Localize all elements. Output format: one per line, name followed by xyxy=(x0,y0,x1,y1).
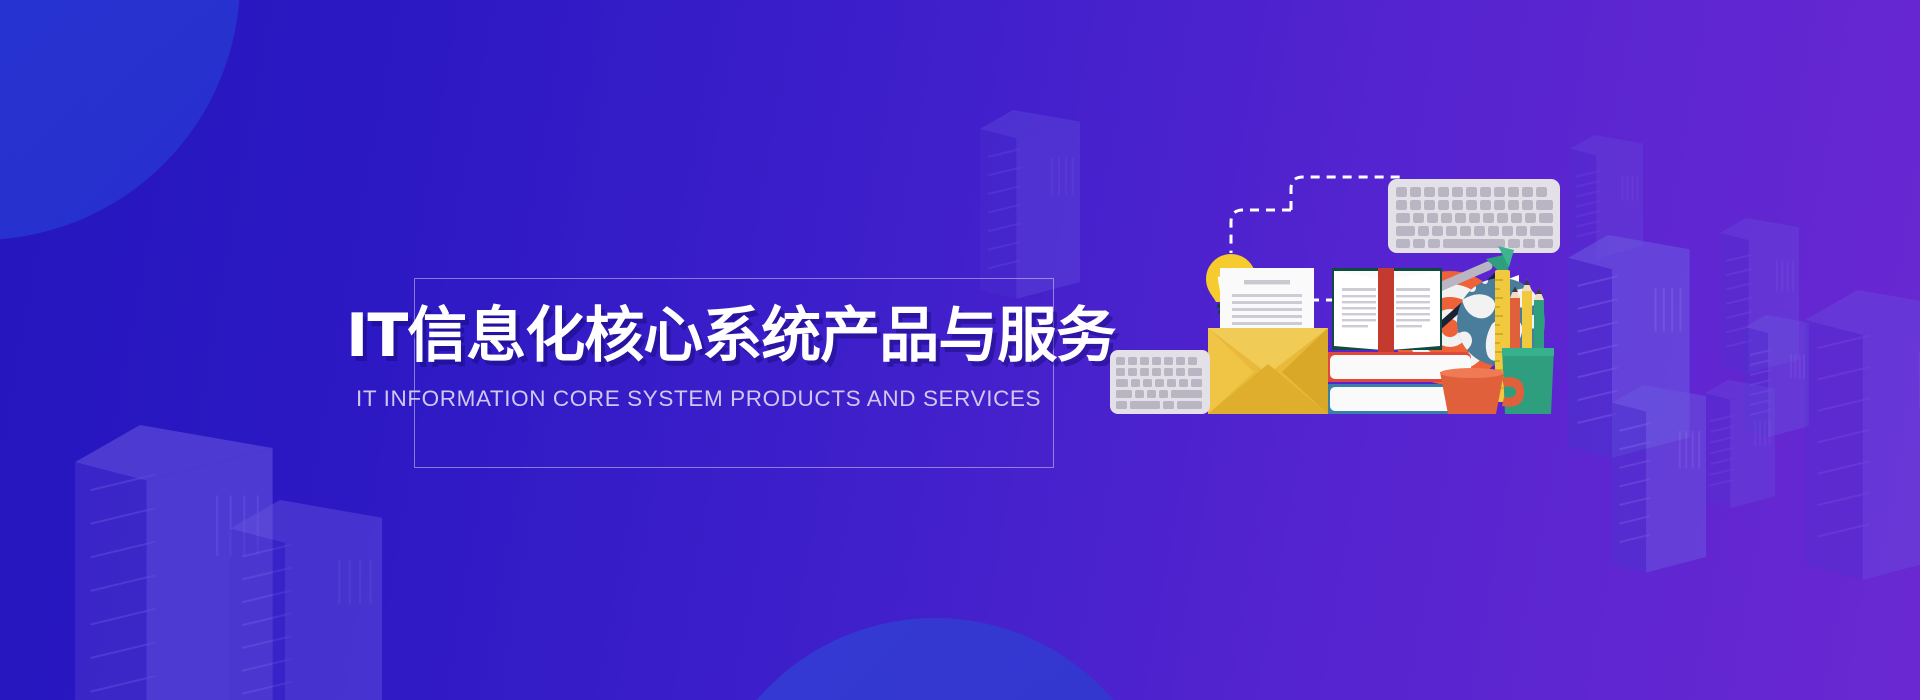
envelope-icon xyxy=(1208,268,1328,414)
building-right-4 xyxy=(1745,315,1809,437)
circle-bottom-decor xyxy=(700,618,1170,700)
building-right-5 xyxy=(1705,380,1775,508)
building-right-1 xyxy=(1570,135,1643,259)
building-left-1 xyxy=(75,425,273,700)
hero-banner: IT信息化核心系统产品与服务 IT INFORMATION CORE SYSTE… xyxy=(0,0,1920,700)
building-right-2 xyxy=(1568,235,1690,458)
hero-text-block: IT信息化核心系统产品与服务 IT INFORMATION CORE SYSTE… xyxy=(414,278,1054,468)
building-mid-1 xyxy=(980,110,1080,299)
building-right-3 xyxy=(1720,218,1799,373)
page-title: IT信息化核心系统产品与服务 xyxy=(346,306,1115,366)
hero-illustration xyxy=(1110,128,1560,473)
building-right-7 xyxy=(1612,385,1706,573)
building-right-6 xyxy=(1805,290,1920,580)
page-subtitle: IT INFORMATION CORE SYSTEM PRODUCTS AND … xyxy=(356,386,1041,412)
keyboard-top-icon xyxy=(1388,179,1560,253)
keyboard-left-icon xyxy=(1110,350,1210,414)
circle-topleft-decor xyxy=(0,0,240,240)
building-left-2 xyxy=(230,500,382,700)
